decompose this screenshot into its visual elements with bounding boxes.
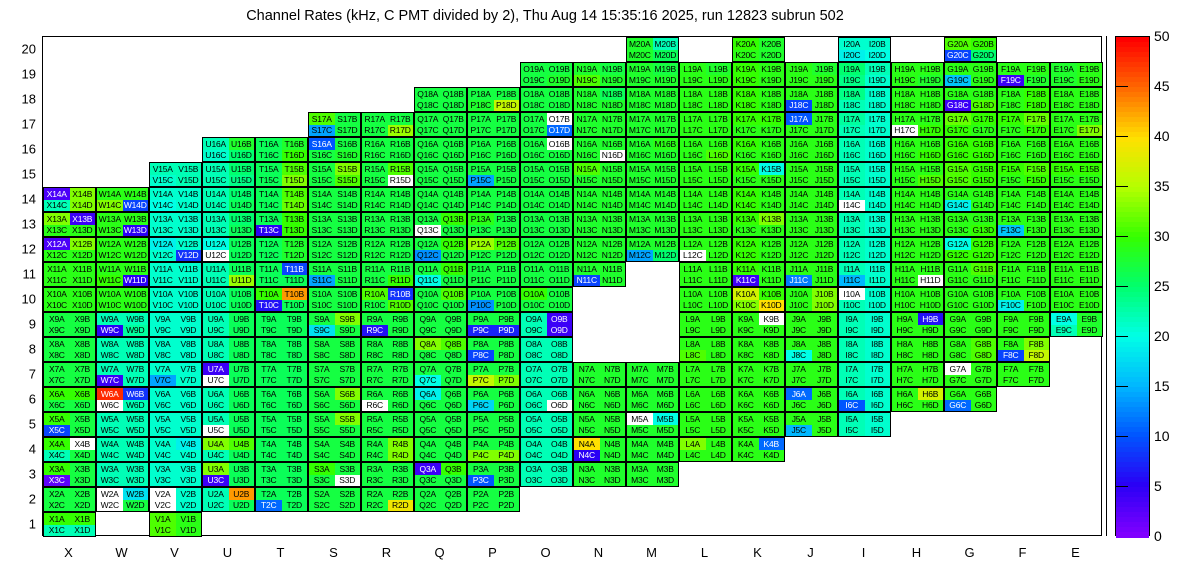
channel-O16B[interactable]: O16B <box>547 138 573 150</box>
channel-K10A[interactable]: K10A <box>733 288 759 300</box>
pmt-cell-J5[interactable]: J5AJ5BJ5CJ5D <box>785 412 838 437</box>
channel-G7D[interactable]: G7D <box>971 375 997 387</box>
channel-R3B[interactable]: R3B <box>388 463 414 475</box>
pmt-cell-U3[interactable]: U3AU3BU3CU3D <box>202 462 255 487</box>
pmt-cell-V11[interactable]: V11AV11BV11CV11D <box>149 262 202 287</box>
channel-I10C[interactable]: I10C <box>839 300 865 312</box>
pmt-cell-O15[interactable]: O15AO15BO15CO15D <box>520 162 573 187</box>
channel-T10D[interactable]: T10D <box>282 300 308 312</box>
channel-R16B[interactable]: R16B <box>388 138 414 150</box>
channel-O6C[interactable]: O6C <box>521 400 547 412</box>
channel-E11C[interactable]: E11C <box>1051 275 1077 287</box>
channel-S12A[interactable]: S12A <box>309 238 335 250</box>
channel-G13B[interactable]: G13B <box>971 213 997 225</box>
channel-I9D[interactable]: I9D <box>865 325 891 337</box>
channel-K16B[interactable]: K16B <box>759 138 785 150</box>
channel-O10B[interactable]: O10B <box>547 288 573 300</box>
channel-W8C[interactable]: W8C <box>97 350 123 362</box>
channel-W5D[interactable]: W5D <box>123 425 149 437</box>
channel-P17A[interactable]: P17A <box>468 113 494 125</box>
pmt-cell-H8[interactable]: H8AH8BH8CH8D <box>891 337 944 362</box>
pmt-cell-P14[interactable]: P14AP14BP14CP14D <box>467 187 520 212</box>
channel-Q16C[interactable]: Q16C <box>415 150 441 162</box>
channel-F9A[interactable]: F9A <box>998 313 1024 325</box>
channel-F18A[interactable]: F18A <box>998 88 1024 100</box>
channel-I7B[interactable]: I7B <box>865 363 891 375</box>
channel-P2C[interactable]: P2C <box>468 500 494 512</box>
pmt-cell-V13[interactable]: V13AV13BV13CV13D <box>149 212 202 237</box>
channel-U16A[interactable]: U16A <box>203 138 229 150</box>
pmt-cell-S17[interactable]: S17AS17BS17CS17D <box>308 112 361 137</box>
channel-R10D[interactable]: R10D <box>388 300 414 312</box>
pmt-cell-O14[interactable]: O14AO14BO14CO14D <box>520 187 573 212</box>
channel-N17D[interactable]: N17D <box>600 125 626 137</box>
channel-I17C[interactable]: I17C <box>839 125 865 137</box>
channel-R10C[interactable]: R10C <box>362 300 388 312</box>
channel-U7D[interactable]: U7D <box>229 375 255 387</box>
channel-S16C[interactable]: S16C <box>309 150 335 162</box>
channel-M13C[interactable]: M13C <box>627 225 653 237</box>
channel-O5D[interactable]: O5D <box>547 425 573 437</box>
channel-U13A[interactable]: U13A <box>203 213 229 225</box>
pmt-cell-G7[interactable]: G7AG7BG7CG7D <box>944 362 997 387</box>
channel-S15A[interactable]: S15A <box>309 163 335 175</box>
channel-V5D[interactable]: V5D <box>176 425 202 437</box>
channel-I8D[interactable]: I8D <box>865 350 891 362</box>
channel-Q17A[interactable]: Q17A <box>415 113 441 125</box>
pmt-cell-S7[interactable]: S7AS7BS7CS7D <box>308 362 361 387</box>
pmt-cell-H14[interactable]: H14AH14BH14CH14D <box>891 187 944 212</box>
pmt-cell-Q14[interactable]: Q14AQ14BQ14CQ14D <box>414 187 467 212</box>
channel-Q9B[interactable]: Q9B <box>441 313 467 325</box>
channel-O12A[interactable]: O12A <box>521 238 547 250</box>
pmt-cell-J14[interactable]: J14AJ14BJ14CJ14D <box>785 187 838 212</box>
channel-L15D[interactable]: L15D <box>706 175 732 187</box>
channel-U9D[interactable]: U9D <box>229 325 255 337</box>
channel-S11A[interactable]: S11A <box>309 263 335 275</box>
pmt-cell-P4[interactable]: P4AP4BP4CP4D <box>467 437 520 462</box>
channel-I14D[interactable]: I14D <box>865 200 891 212</box>
channel-I19D[interactable]: I19D <box>865 75 891 87</box>
channel-S14D[interactable]: S14D <box>335 200 361 212</box>
channel-V5B[interactable]: V5B <box>176 413 202 425</box>
pmt-cell-W11[interactable]: W11AW11BW11CW11D <box>96 262 149 287</box>
channel-O5B[interactable]: O5B <box>547 413 573 425</box>
channel-O4D[interactable]: O4D <box>547 450 573 462</box>
channel-Q2A[interactable]: Q2A <box>415 488 441 500</box>
channel-L6D[interactable]: L6D <box>706 400 732 412</box>
channel-N12D[interactable]: N12D <box>600 250 626 262</box>
channel-T5D[interactable]: T5D <box>282 425 308 437</box>
pmt-cell-I9[interactable]: I9AI9BI9CI9D <box>838 312 891 337</box>
channel-J17D[interactable]: J17D <box>812 125 838 137</box>
channel-F12D[interactable]: F12D <box>1024 250 1050 262</box>
channel-J12A[interactable]: J12A <box>786 238 812 250</box>
channel-I7C[interactable]: I7C <box>839 375 865 387</box>
channel-L19C[interactable]: L19C <box>680 75 706 87</box>
channel-N19B[interactable]: N19B <box>600 63 626 75</box>
channel-N17A[interactable]: N17A <box>574 113 600 125</box>
channel-R15C[interactable]: R15C <box>362 175 388 187</box>
channel-I17B[interactable]: I17B <box>865 113 891 125</box>
channel-U12D[interactable]: U12D <box>229 250 255 262</box>
pmt-cell-P11[interactable]: P11AP11BP11CP11D <box>467 262 520 287</box>
channel-R15D[interactable]: R15D <box>388 175 414 187</box>
channel-T9C[interactable]: T9C <box>256 325 282 337</box>
pmt-cell-L5[interactable]: L5AL5BL5CL5D <box>679 412 732 437</box>
pmt-cell-Q18[interactable]: Q18AQ18BQ18CQ18D <box>414 87 467 112</box>
pmt-cell-S5[interactable]: S5AS5BS5CS5D <box>308 412 361 437</box>
channel-H19B[interactable]: H19B <box>918 63 944 75</box>
pmt-cell-P17[interactable]: P17AP17BP17CP17D <box>467 112 520 137</box>
pmt-cell-N6[interactable]: N6AN6BN6CN6D <box>573 387 626 412</box>
channel-W14C[interactable]: W14C <box>97 200 123 212</box>
channel-J19C[interactable]: J19C <box>786 75 812 87</box>
channel-W3A[interactable]: W3A <box>97 463 123 475</box>
channel-L16D[interactable]: L16D <box>706 150 732 162</box>
channel-N7B[interactable]: N7B <box>600 363 626 375</box>
channel-G14D[interactable]: G14D <box>971 200 997 212</box>
channel-X2B[interactable]: X2B <box>70 488 96 500</box>
channel-H17D[interactable]: H17D <box>918 125 944 137</box>
channel-G17C[interactable]: G17C <box>945 125 971 137</box>
channel-W12B[interactable]: W12B <box>123 238 149 250</box>
channel-M16C[interactable]: M16C <box>627 150 653 162</box>
channel-H15B[interactable]: H15B <box>918 163 944 175</box>
channel-S11D[interactable]: S11D <box>335 275 361 287</box>
channel-S9B[interactable]: S9B <box>335 313 361 325</box>
channel-P12A[interactable]: P12A <box>468 238 494 250</box>
channel-Q7D[interactable]: Q7D <box>441 375 467 387</box>
channel-X6A[interactable]: X6A <box>44 388 70 400</box>
channel-I13A[interactable]: I13A <box>839 213 865 225</box>
channel-I11B[interactable]: I11B <box>865 263 891 275</box>
pmt-cell-G17[interactable]: G17AG17BG17CG17D <box>944 112 997 137</box>
channel-L9B[interactable]: L9B <box>706 313 732 325</box>
channel-J16C[interactable]: J16C <box>786 150 812 162</box>
pmt-cell-N11[interactable]: N11AN11BN11CN11D <box>573 262 626 287</box>
channel-V8D[interactable]: V8D <box>176 350 202 362</box>
channel-K8D[interactable]: K8D <box>759 350 785 362</box>
channel-T15D[interactable]: T15D <box>282 175 308 187</box>
channel-S2A[interactable]: S2A <box>309 488 335 500</box>
channel-Q5A[interactable]: Q5A <box>415 413 441 425</box>
channel-J16D[interactable]: J16D <box>812 150 838 162</box>
pmt-cell-I18[interactable]: I18AI18BI18CI18D <box>838 87 891 112</box>
channel-M6A[interactable]: M6A <box>627 388 653 400</box>
channel-I11D[interactable]: I11D <box>865 275 891 287</box>
pmt-cell-H7[interactable]: H7AH7BH7CH7D <box>891 362 944 387</box>
pmt-cell-X6[interactable]: X6AX6BX6CX6D <box>43 387 96 412</box>
channel-O10A[interactable]: O10A <box>521 288 547 300</box>
pmt-cell-O8[interactable]: O8AO8BO8CO8D <box>520 337 573 362</box>
pmt-cell-H6[interactable]: H6AH6BH6CH6D <box>891 387 944 412</box>
channel-O10C[interactable]: O10C <box>521 300 547 312</box>
channel-P13C[interactable]: P13C <box>468 225 494 237</box>
channel-K17B[interactable]: K17B <box>759 113 785 125</box>
channel-V2A[interactable]: V2A <box>150 488 176 500</box>
channel-N18A[interactable]: N18A <box>574 88 600 100</box>
channel-S6C[interactable]: S6C <box>309 400 335 412</box>
channel-V4B[interactable]: V4B <box>176 438 202 450</box>
channel-G20D[interactable]: G20D <box>971 50 997 62</box>
channel-N11D[interactable]: N11D <box>600 275 626 287</box>
channel-Q3D[interactable]: Q3D <box>441 475 467 487</box>
pmt-cell-Q3[interactable]: Q3AQ3BQ3CQ3D <box>414 462 467 487</box>
channel-H18C[interactable]: H18C <box>892 100 918 112</box>
channel-Q7C[interactable]: Q7C <box>415 375 441 387</box>
channel-J8B[interactable]: J8B <box>812 338 838 350</box>
channel-T2D[interactable]: T2D <box>282 500 308 512</box>
pmt-cell-K11[interactable]: K11AK11BK11CK11D <box>732 262 785 287</box>
channel-Q12A[interactable]: Q12A <box>415 238 441 250</box>
channel-L17B[interactable]: L17B <box>706 113 732 125</box>
channel-J16A[interactable]: J16A <box>786 138 812 150</box>
channel-F7B[interactable]: F7B <box>1024 363 1050 375</box>
pmt-cell-G12[interactable]: G12AG12BG12CG12D <box>944 237 997 262</box>
channel-R9D[interactable]: R9D <box>388 325 414 337</box>
channel-X7D[interactable]: X7D <box>70 375 96 387</box>
pmt-cell-G15[interactable]: G15AG15BG15CG15D <box>944 162 997 187</box>
channel-R5A[interactable]: R5A <box>362 413 388 425</box>
channel-W6B[interactable]: W6B <box>123 388 149 400</box>
channel-S6A[interactable]: S6A <box>309 388 335 400</box>
channel-L8C[interactable]: L8C <box>680 350 706 362</box>
pmt-cell-N7[interactable]: N7AN7BN7CN7D <box>573 362 626 387</box>
channel-P13A[interactable]: P13A <box>468 213 494 225</box>
channel-X2A[interactable]: X2A <box>44 488 70 500</box>
pmt-cell-L16[interactable]: L16AL16BL16CL16D <box>679 137 732 162</box>
channel-L13B[interactable]: L13B <box>706 213 732 225</box>
channel-R2A[interactable]: R2A <box>362 488 388 500</box>
channel-G19B[interactable]: G19B <box>971 63 997 75</box>
channel-O6B[interactable]: O6B <box>547 388 573 400</box>
channel-G10C[interactable]: G10C <box>945 300 971 312</box>
channel-U13B[interactable]: U13B <box>229 213 255 225</box>
channel-K6A[interactable]: K6A <box>733 388 759 400</box>
pmt-cell-R13[interactable]: R13AR13BR13CR13D <box>361 212 414 237</box>
channel-H13A[interactable]: H13A <box>892 213 918 225</box>
pmt-cell-W4[interactable]: W4AW4BW4CW4D <box>96 437 149 462</box>
channel-S8D[interactable]: S8D <box>335 350 361 362</box>
channel-F8C[interactable]: F8C <box>998 350 1024 362</box>
channel-U5A[interactable]: U5A <box>203 413 229 425</box>
channel-T3B[interactable]: T3B <box>282 463 308 475</box>
pmt-cell-W14[interactable]: W14AW14BW14CW14D <box>96 187 149 212</box>
channel-R14A[interactable]: R14A <box>362 188 388 200</box>
channel-V10B[interactable]: V10B <box>176 288 202 300</box>
channel-S8C[interactable]: S8C <box>309 350 335 362</box>
channel-M4A[interactable]: M4A <box>627 438 653 450</box>
channel-S5C[interactable]: S5C <box>309 425 335 437</box>
channel-M20A[interactable]: M20A <box>627 38 653 50</box>
channel-P8A[interactable]: P8A <box>468 338 494 350</box>
pmt-cell-I11[interactable]: I11AI11BI11CI11D <box>838 262 891 287</box>
channel-W3D[interactable]: W3D <box>123 475 149 487</box>
channel-J19B[interactable]: J19B <box>812 63 838 75</box>
channel-L6C[interactable]: L6C <box>680 400 706 412</box>
pmt-cell-R10[interactable]: R10AR10BR10CR10D <box>361 287 414 312</box>
channel-G18D[interactable]: G18D <box>971 100 997 112</box>
channel-I16B[interactable]: I16B <box>865 138 891 150</box>
channel-W5A[interactable]: W5A <box>97 413 123 425</box>
channel-P15C[interactable]: P15C <box>468 175 494 187</box>
pmt-cell-O9[interactable]: O9AO9BO9CO9D <box>520 312 573 337</box>
channel-F17A[interactable]: F17A <box>998 113 1024 125</box>
channel-G17A[interactable]: G17A <box>945 113 971 125</box>
channel-rate-heatmap[interactable]: M20AM20BM20CM20DK20AK20BK20CK20DI20AI20B… <box>42 36 1102 536</box>
channel-F19B[interactable]: F19B <box>1024 63 1050 75</box>
pmt-cell-T14[interactable]: T14AT14BT14CT14D <box>255 187 308 212</box>
pmt-cell-K5[interactable]: K5AK5BK5CK5D <box>732 412 785 437</box>
pmt-cell-R17[interactable]: R17AR17BR17CR17D <box>361 112 414 137</box>
channel-F15B[interactable]: F15B <box>1024 163 1050 175</box>
pmt-cell-F13[interactable]: F13AF13BF13CF13D <box>997 212 1050 237</box>
channel-E17A[interactable]: E17A <box>1051 113 1077 125</box>
channel-Q3C[interactable]: Q3C <box>415 475 441 487</box>
channel-F17C[interactable]: F17C <box>998 125 1024 137</box>
channel-E16D[interactable]: E16D <box>1077 150 1103 162</box>
channel-U5D[interactable]: U5D <box>229 425 255 437</box>
channel-V8A[interactable]: V8A <box>150 338 176 350</box>
channel-L4D[interactable]: L4D <box>706 450 732 462</box>
channel-Q5D[interactable]: Q5D <box>441 425 467 437</box>
pmt-cell-W6[interactable]: W6AW6BW6CW6D <box>96 387 149 412</box>
channel-I8C[interactable]: I8C <box>839 350 865 362</box>
pmt-cell-J19[interactable]: J19AJ19BJ19CJ19D <box>785 62 838 87</box>
channel-T8D[interactable]: T8D <box>282 350 308 362</box>
channel-R8B[interactable]: R8B <box>388 338 414 350</box>
channel-F13C[interactable]: F13C <box>998 225 1024 237</box>
channel-R6B[interactable]: R6B <box>388 388 414 400</box>
channel-F10A[interactable]: F10A <box>998 288 1024 300</box>
channel-W3C[interactable]: W3C <box>97 475 123 487</box>
channel-O17A[interactable]: O17A <box>521 113 547 125</box>
channel-K5C[interactable]: K5C <box>733 425 759 437</box>
channel-G12B[interactable]: G12B <box>971 238 997 250</box>
channel-K16C[interactable]: K16C <box>733 150 759 162</box>
channel-M15C[interactable]: M15C <box>627 175 653 187</box>
channel-W2B[interactable]: W2B <box>123 488 149 500</box>
channel-V6A[interactable]: V6A <box>150 388 176 400</box>
pmt-cell-L14[interactable]: L14AL14BL14CL14D <box>679 187 732 212</box>
channel-K5B[interactable]: K5B <box>759 413 785 425</box>
channel-V3A[interactable]: V3A <box>150 463 176 475</box>
pmt-cell-W3[interactable]: W3AW3BW3CW3D <box>96 462 149 487</box>
channel-P14B[interactable]: P14B <box>494 188 520 200</box>
channel-W4C[interactable]: W4C <box>97 450 123 462</box>
channel-N3D[interactable]: N3D <box>600 475 626 487</box>
pmt-cell-E15[interactable]: E15AE15BE15CE15D <box>1050 162 1103 187</box>
channel-G11D[interactable]: G11D <box>971 275 997 287</box>
channel-L14C[interactable]: L14C <box>680 200 706 212</box>
pmt-cell-M17[interactable]: M17AM17BM17CM17D <box>626 112 679 137</box>
channel-V14C[interactable]: V14C <box>150 200 176 212</box>
pmt-cell-H15[interactable]: H15AH15BH15CH15D <box>891 162 944 187</box>
channel-N3C[interactable]: N3C <box>574 475 600 487</box>
channel-U12A[interactable]: U12A <box>203 238 229 250</box>
channel-L9A[interactable]: L9A <box>680 313 706 325</box>
channel-H19A[interactable]: H19A <box>892 63 918 75</box>
channel-U13D[interactable]: U13D <box>229 225 255 237</box>
channel-X1C[interactable]: X1C <box>44 525 70 537</box>
channel-R15B[interactable]: R15B <box>388 163 414 175</box>
channel-Q7A[interactable]: Q7A <box>415 363 441 375</box>
channel-H6C[interactable]: H6C <box>892 400 918 412</box>
pmt-cell-P15[interactable]: P15AP15BP15CP15D <box>467 162 520 187</box>
channel-P16B[interactable]: P16B <box>494 138 520 150</box>
channel-L18C[interactable]: L18C <box>680 100 706 112</box>
channel-S4B[interactable]: S4B <box>335 438 361 450</box>
channel-U4A[interactable]: U4A <box>203 438 229 450</box>
channel-S17A[interactable]: S17A <box>309 113 335 125</box>
channel-V9C[interactable]: V9C <box>150 325 176 337</box>
channel-N5C[interactable]: N5C <box>574 425 600 437</box>
channel-T3D[interactable]: T3D <box>282 475 308 487</box>
channel-G15D[interactable]: G15D <box>971 175 997 187</box>
pmt-cell-V3[interactable]: V3AV3BV3CV3D <box>149 462 202 487</box>
channel-R13A[interactable]: R13A <box>362 213 388 225</box>
channel-K12D[interactable]: K12D <box>759 250 785 262</box>
channel-F8A[interactable]: F8A <box>998 338 1024 350</box>
channel-X6D[interactable]: X6D <box>70 400 96 412</box>
channel-U6C[interactable]: U6C <box>203 400 229 412</box>
channel-L6B[interactable]: L6B <box>706 388 732 400</box>
channel-S7C[interactable]: S7C <box>309 375 335 387</box>
channel-R11C[interactable]: R11C <box>362 275 388 287</box>
channel-R11A[interactable]: R11A <box>362 263 388 275</box>
channel-T7D[interactable]: T7D <box>282 375 308 387</box>
channel-H10B[interactable]: H10B <box>918 288 944 300</box>
channel-P15B[interactable]: P15B <box>494 163 520 175</box>
pmt-cell-X10[interactable]: X10AX10BX10CX10D <box>43 287 96 312</box>
channel-P11C[interactable]: P11C <box>468 275 494 287</box>
channel-M12B[interactable]: M12B <box>653 238 679 250</box>
channel-K19B[interactable]: K19B <box>759 63 785 75</box>
channel-P11D[interactable]: P11D <box>494 275 520 287</box>
pmt-cell-H17[interactable]: H17AH17BH17CH17D <box>891 112 944 137</box>
channel-E16C[interactable]: E16C <box>1051 150 1077 162</box>
channel-H13B[interactable]: H13B <box>918 213 944 225</box>
channel-T5B[interactable]: T5B <box>282 413 308 425</box>
channel-K10C[interactable]: K10C <box>733 300 759 312</box>
channel-L16A[interactable]: L16A <box>680 138 706 150</box>
channel-J8A[interactable]: J8A <box>786 338 812 350</box>
pmt-cell-S11[interactable]: S11AS11BS11CS11D <box>308 262 361 287</box>
pmt-cell-Q6[interactable]: Q6AQ6BQ6CQ6D <box>414 387 467 412</box>
channel-Q15C[interactable]: Q15C <box>415 175 441 187</box>
channel-K13B[interactable]: K13B <box>759 213 785 225</box>
pmt-cell-W5[interactable]: W5AW5BW5CW5D <box>96 412 149 437</box>
channel-T3A[interactable]: T3A <box>256 463 282 475</box>
channel-G8D[interactable]: G8D <box>971 350 997 362</box>
channel-T8C[interactable]: T8C <box>256 350 282 362</box>
channel-P18A[interactable]: P18A <box>468 88 494 100</box>
pmt-cell-U8[interactable]: U8AU8BU8CU8D <box>202 337 255 362</box>
channel-E9D[interactable]: E9D <box>1077 325 1103 337</box>
channel-I10D[interactable]: I10D <box>865 300 891 312</box>
channel-E10A[interactable]: E10A <box>1051 288 1077 300</box>
channel-K11A[interactable]: K11A <box>733 263 759 275</box>
channel-L18D[interactable]: L18D <box>706 100 732 112</box>
channel-W11B[interactable]: W11B <box>123 263 149 275</box>
channel-K17A[interactable]: K17A <box>733 113 759 125</box>
channel-W14B[interactable]: W14B <box>123 188 149 200</box>
channel-W9C[interactable]: W9C <box>97 325 123 337</box>
pmt-cell-X9[interactable]: X9AX9BX9CX9D <box>43 312 96 337</box>
channel-O15D[interactable]: O15D <box>547 175 573 187</box>
channel-V1C[interactable]: V1C <box>150 525 176 537</box>
